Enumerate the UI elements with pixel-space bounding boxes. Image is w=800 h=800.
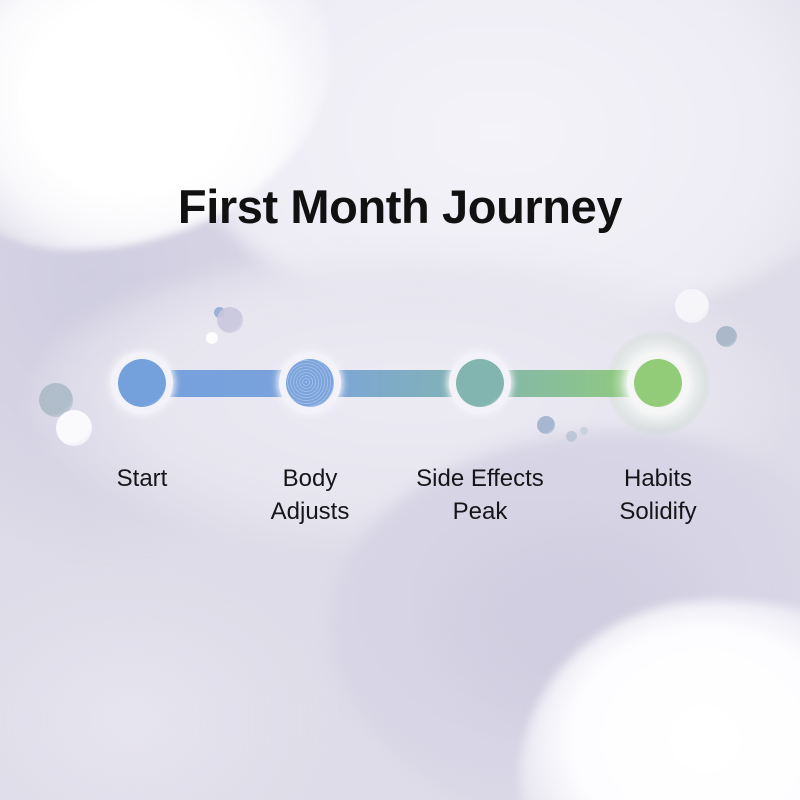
infographic-canvas: First Month Journey StartBodyAdjustsSide… [0,0,800,800]
timeline-label-layer: StartBodyAdjustsSide EffectsPeakHabitsSo… [0,462,800,552]
timeline-node-side-effects-peak[interactable] [449,352,511,414]
background-blob-top-sweep [180,0,800,330]
timeline-node-dot-side-effects-peak [456,359,504,407]
timeline-label-start: Start [47,462,237,495]
timeline-label-body-adjusts: BodyAdjusts [215,462,405,528]
timeline-label-line2-side-effects-peak: Peak [385,495,575,528]
timeline-label-habits-solidify: HabitsSolidify [563,462,753,528]
timeline-label-line1-body-adjusts: Body [283,465,338,492]
timeline-label-line2-habits-solidify: Solidify [563,495,753,528]
timeline-node-body-adjusts[interactable] [279,352,341,414]
timeline-label-line1-habits-solidify: Habits [624,465,692,492]
timeline-label-side-effects-peak: Side EffectsPeak [385,462,575,528]
timeline-node-dot-start [118,359,166,407]
timeline-node-start[interactable] [111,352,173,414]
timeline-node-habits-solidify[interactable] [627,352,689,414]
timeline-track [142,370,658,397]
bubble-white-right [675,289,709,323]
journey-timeline [0,330,800,440]
background-blob-bottom-left [0,560,340,800]
timeline-label-line2-body-adjusts: Adjusts [215,495,405,528]
timeline-node-texture-body-adjusts [286,359,334,407]
timeline-label-line1-start: Start [117,465,168,492]
background-blob-ribbon [430,520,730,750]
bubble-small-blue-upper [214,307,225,318]
background-blob-white-bottom-right [520,600,800,800]
page-title: First Month Journey [0,178,800,236]
timeline-node-dot-habits-solidify [634,359,682,407]
timeline-label-line1-side-effects-peak: Side Effects [416,465,544,492]
